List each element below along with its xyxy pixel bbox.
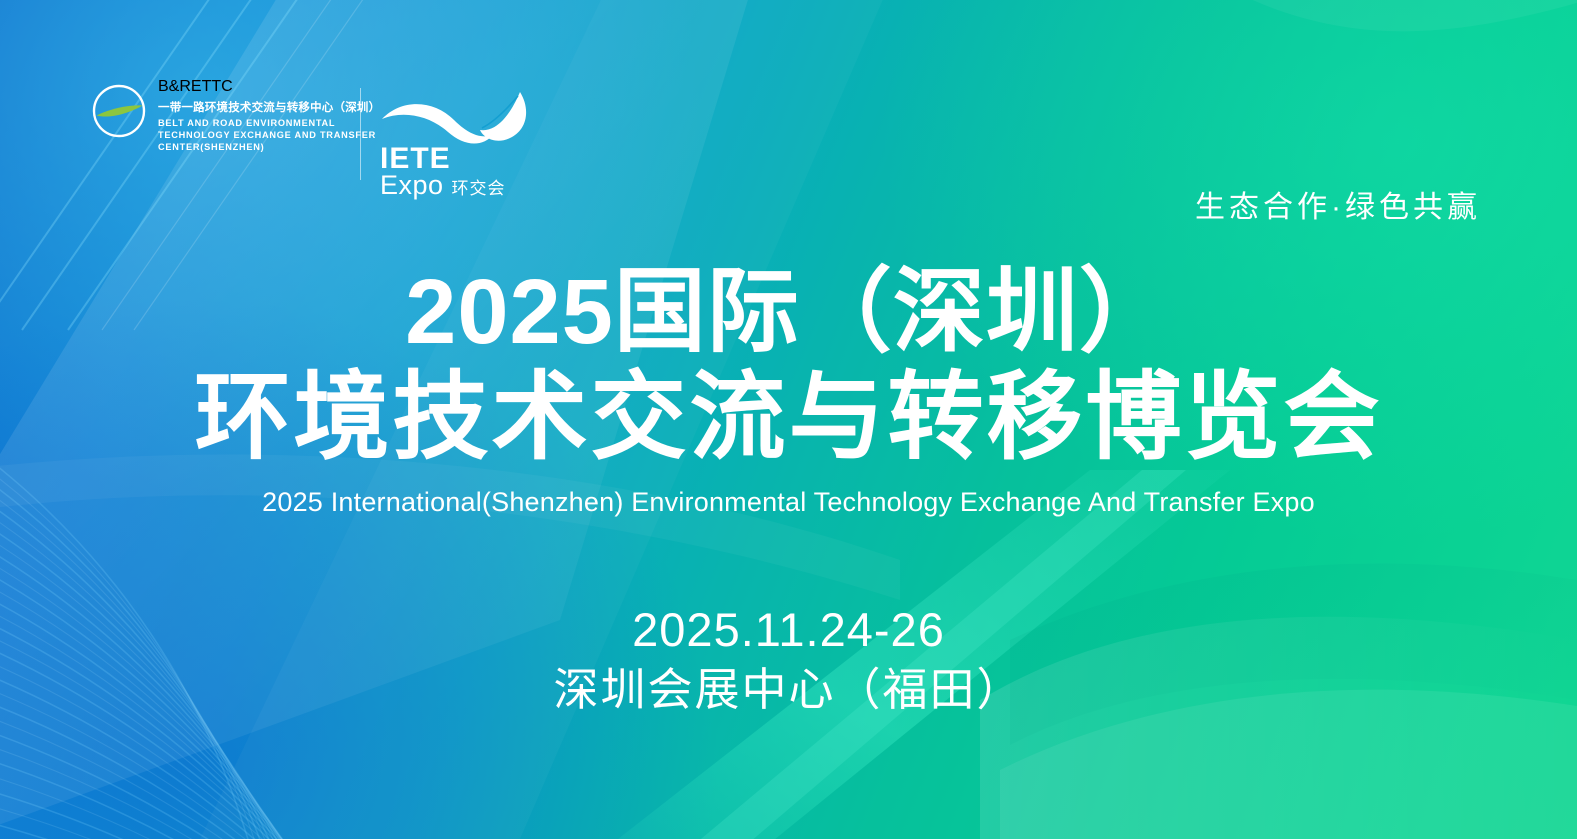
page-title-line-2: 环境技术交流与转移博览会 xyxy=(0,367,1577,469)
event-date: 2025.11.24-26 xyxy=(0,604,1577,657)
brettc-name: B&RETTC xyxy=(158,78,380,96)
brettc-text-block: B&RETTC 一带一路环境技术交流与转移中心（深圳） BELT AND ROA… xyxy=(158,78,380,154)
iete-expo-logo[interactable]: IETE Expo 环交会 xyxy=(378,90,538,195)
logo-divider xyxy=(360,88,361,180)
poster-header: B&RETTC 一带一路环境技术交流与转移中心（深圳） BELT AND ROA… xyxy=(0,78,1577,196)
page-subtitle-english: 2025 International(Shenzhen) Environment… xyxy=(0,487,1577,518)
poster-stage: B&RETTC 一带一路环境技术交流与转移中心（深圳） BELT AND ROA… xyxy=(0,0,1577,839)
brettc-name-english: BELT AND ROAD ENVIRONMENTAL TECHNOLOGY E… xyxy=(158,117,380,154)
event-meta-block: 2025.11.24-26 深圳会展中心（福田） xyxy=(0,604,1577,717)
brettc-english-line-2: TECHNOLOGY EXCHANGE AND TRANSFER xyxy=(158,129,380,141)
page-title-line-1: 2025国际（深圳） xyxy=(0,263,1577,361)
expo-label-chinese: 环交会 xyxy=(452,180,506,197)
brettc-english-line-1: BELT AND ROAD ENVIRONMENTAL xyxy=(158,117,380,129)
circle-leaf-icon xyxy=(88,82,150,140)
brettc-name-chinese: 一带一路环境技术交流与转移中心（深圳） xyxy=(158,99,380,115)
poster-tagline: 生态合作·绿色共赢 xyxy=(1195,182,1481,226)
brettc-english-line-3: CENTER(SHENZHEN) xyxy=(158,141,380,153)
brettc-logo[interactable]: B&RETTC 一带一路环境技术交流与转移中心（深圳） BELT AND ROA… xyxy=(88,78,380,154)
iete-sub-row: Expo 环交会 xyxy=(380,172,506,199)
expo-label: Expo xyxy=(380,172,444,199)
event-venue: 深圳会展中心（福田） xyxy=(0,663,1577,717)
poster-title-block: 2025国际（深圳） 环境技术交流与转移博览会 2025 Internation… xyxy=(0,263,1577,518)
poster-content: B&RETTC 一带一路环境技术交流与转移中心（深圳） BELT AND ROA… xyxy=(0,0,1577,839)
